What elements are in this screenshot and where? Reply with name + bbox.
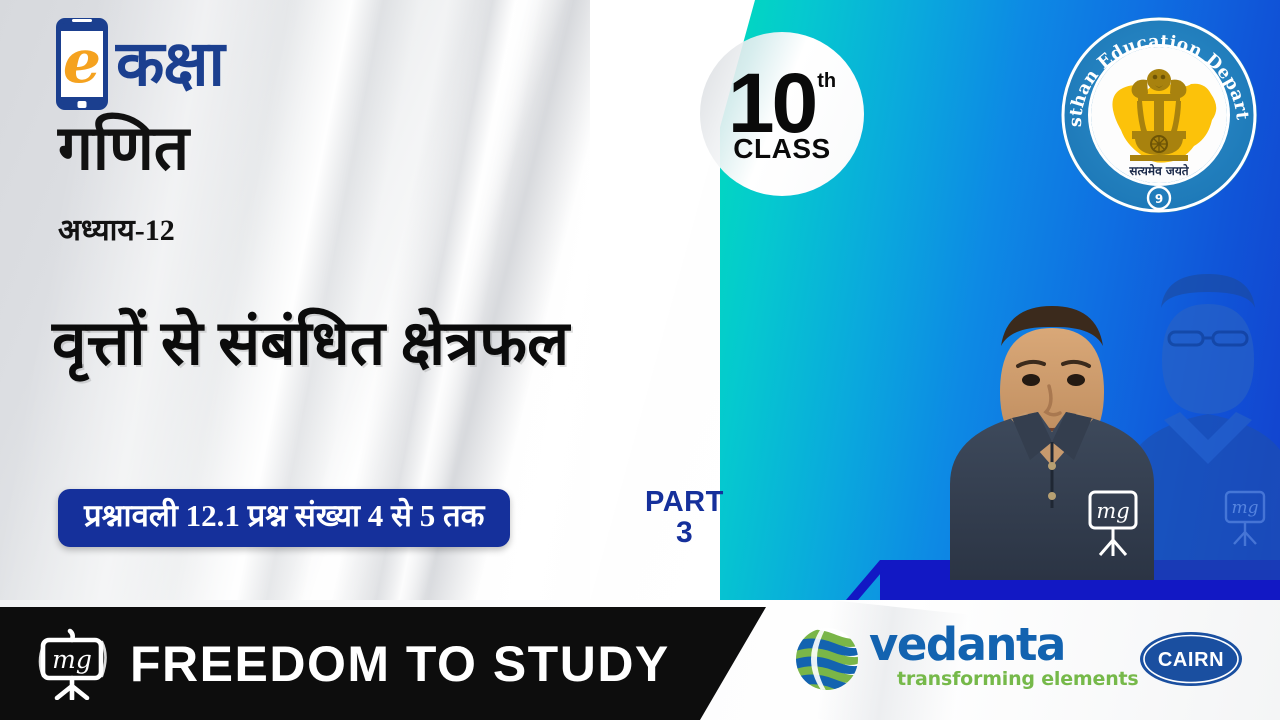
svg-text:mg: mg <box>1096 499 1129 523</box>
class-number-row: 10 th <box>728 69 836 138</box>
sponsor-cairn: CAIRN <box>1138 630 1244 688</box>
exercise-badge: प्रश्नावली 12.1 प्रश्न संख्या 4 से 5 तक <box>58 489 510 547</box>
class-word: CLASS <box>733 133 830 165</box>
rajasthan-education-department-seal: Rajasthan Education Department <box>1056 12 1262 218</box>
smartphone-icon: e <box>56 18 108 110</box>
part-number: 3 <box>645 517 724 548</box>
vedanta-tagline: transforming elements <box>897 668 1139 690</box>
instructors-photo: mg <box>930 180 1280 580</box>
mg-easel-icon: mg <box>34 628 112 700</box>
subject-title: गणित <box>58 118 189 180</box>
chapter-label: अध्याय-12 <box>58 216 175 246</box>
thumbnail-canvas: mg <box>0 0 1280 720</box>
phone-speaker-icon <box>72 19 92 22</box>
page-title: वृत्तों से संबंधित क्षेत्रफल <box>52 312 569 377</box>
phone-screen: e <box>61 31 103 97</box>
svg-text:mg: mg <box>1231 498 1258 518</box>
part-label: PART <box>645 487 724 517</box>
class-ordinal-suffix: th <box>817 73 836 89</box>
ashoka-lion-capital-emblem <box>1130 69 1188 161</box>
seal-motto: सत्यमेव जयते <box>1128 164 1189 178</box>
logo-word-kaksha: कक्षा <box>116 33 224 96</box>
vedanta-name: vedanta <box>869 618 1065 671</box>
vedanta-globe-icon <box>794 626 860 692</box>
tagline-banner: mg FREEDOM TO STUDY <box>0 607 766 720</box>
svg-text:mg: mg <box>52 645 92 674</box>
class-number: 10 <box>728 69 815 138</box>
logo-letter-e: e <box>63 38 101 86</box>
vedanta-wordmark: vedanta transforming elements <box>869 624 1139 690</box>
svg-text:9: 9 <box>1155 192 1163 206</box>
class-badge: 10 th CLASS <box>700 32 864 196</box>
sponsor-vedanta: vedanta transforming elements <box>794 624 1139 692</box>
ekaksha-logo: e कक्षा <box>56 18 224 110</box>
phone-home-button-icon <box>78 101 87 108</box>
part-indicator: PART 3 <box>645 487 724 548</box>
tagline-text: FREEDOM TO STUDY <box>130 635 670 693</box>
cairn-name: CAIRN <box>1158 649 1224 671</box>
